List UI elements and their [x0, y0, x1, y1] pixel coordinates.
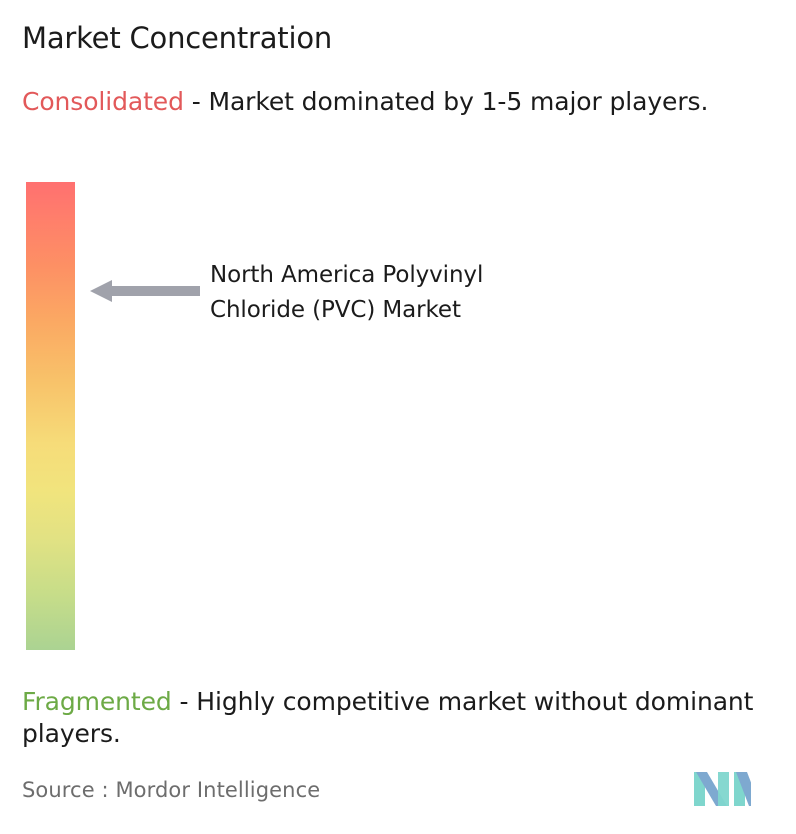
legend-separator-consolidated: - — [184, 87, 209, 116]
concentration-gradient-bar — [26, 182, 75, 650]
market-concentration-chart: Market Concentration Consolidated - Mark… — [0, 0, 796, 834]
legend-separator-fragmented: - — [172, 687, 197, 716]
market-callout-label-line1: North America Polyvinyl — [210, 258, 630, 293]
legend-key-fragmented: Fragmented — [22, 687, 172, 716]
arrow-left-icon — [90, 279, 200, 303]
page-title: Market Concentration — [22, 20, 332, 56]
legend-description-consolidated: Market dominated by 1-5 major players. — [208, 87, 708, 116]
mordor-intelligence-logo-icon — [694, 768, 760, 810]
legend-key-consolidated: Consolidated — [22, 87, 184, 116]
source-attribution: Source : Mordor Intelligence — [22, 778, 320, 802]
legend-consolidated: Consolidated - Market dominated by 1-5 m… — [22, 86, 784, 118]
legend-fragmented: Fragmented - Highly competitive market w… — [22, 686, 784, 750]
market-callout-label: North America Polyvinyl Chloride (PVC) M… — [210, 258, 630, 328]
market-callout-label-line2: Chloride (PVC) Market — [210, 293, 630, 328]
